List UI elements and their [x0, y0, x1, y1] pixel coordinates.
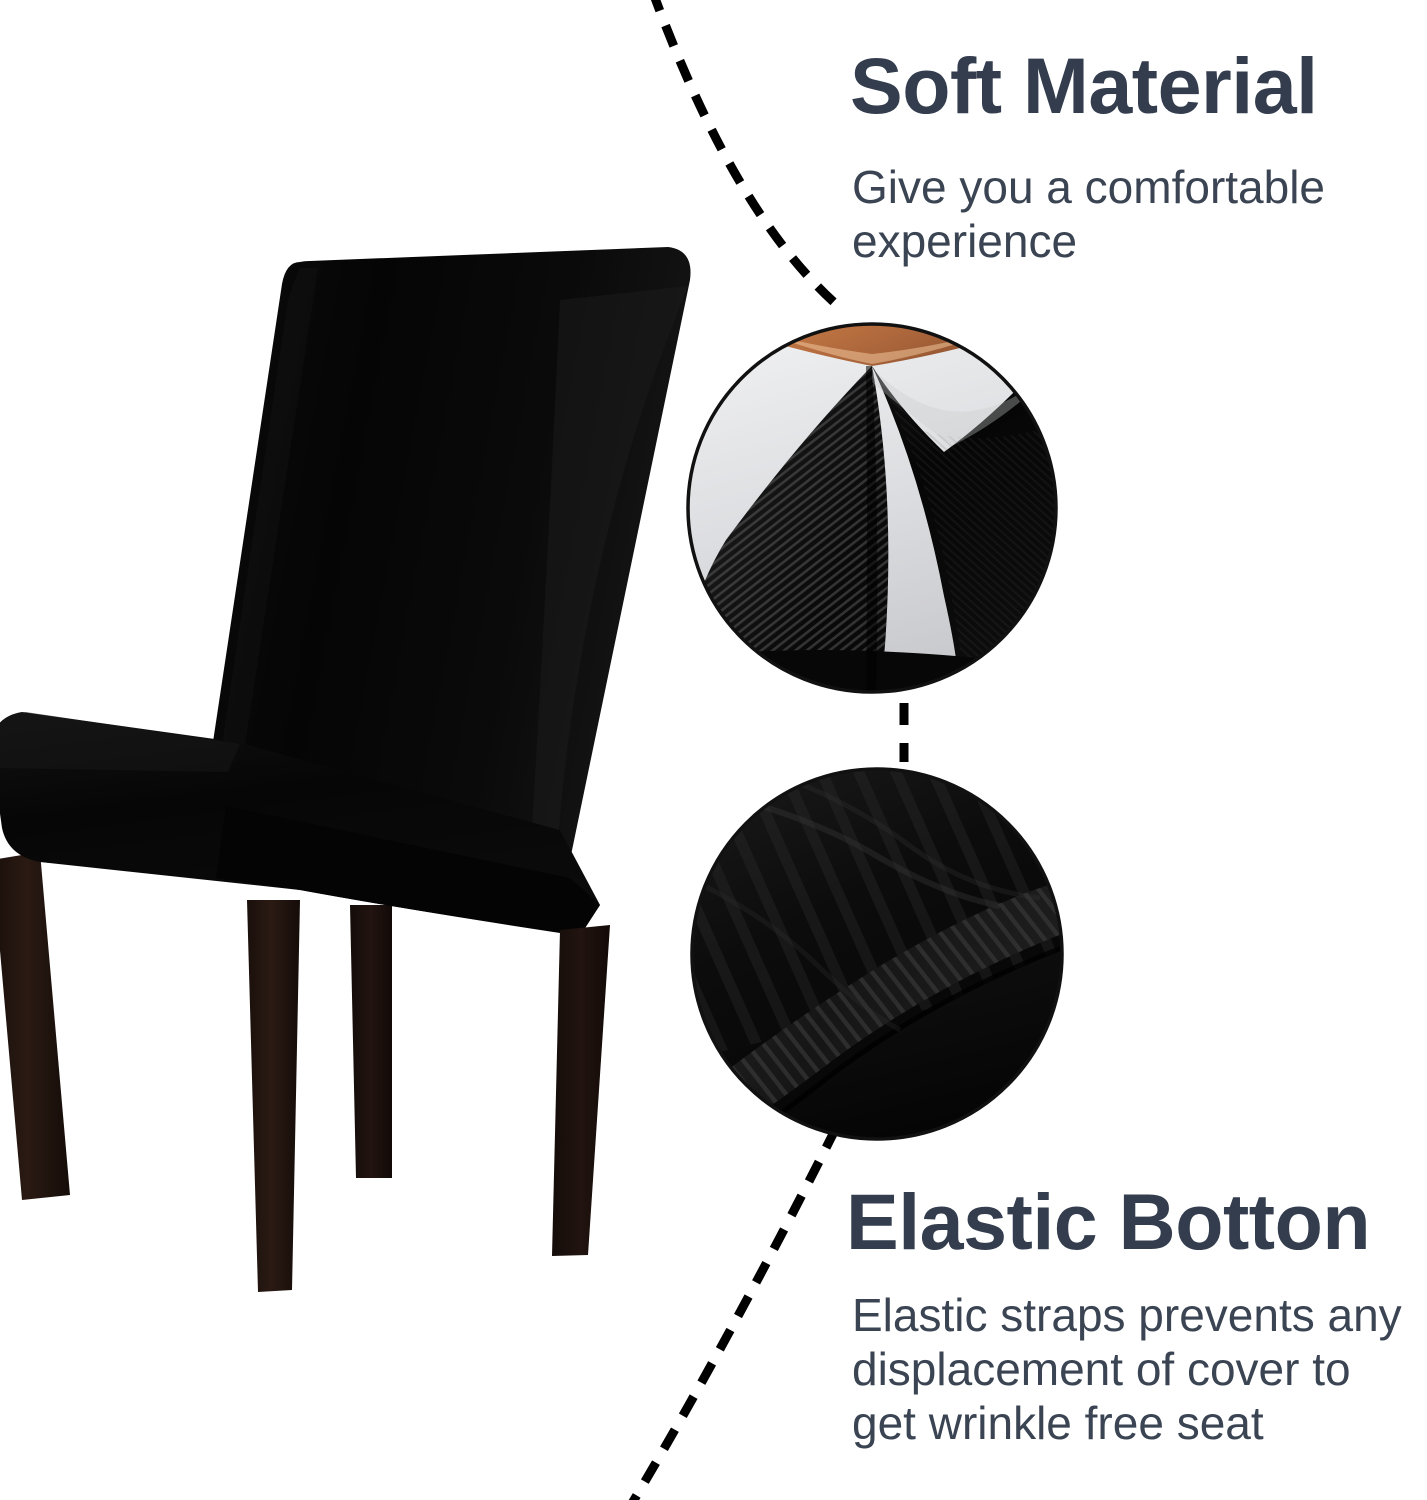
- elastic-botton-heading: Elastic Botton: [846, 1180, 1370, 1264]
- soft-material-closeup-content: [672, 300, 1075, 705]
- soft-material-description: Give you a comfortable experience: [852, 160, 1412, 268]
- elastic-botton-description: Elastic straps prevents any displacement…: [852, 1288, 1412, 1450]
- chair-rear-legs: [0, 852, 392, 1200]
- infographic-canvas: Soft Material Give you a comfortable exp…: [0, 0, 1427, 1500]
- chair-backrest-cover: [208, 247, 691, 881]
- dashed-guide-curve-lower: [628, 1128, 836, 1500]
- chair-front-legs: [247, 900, 610, 1292]
- chair-seat-cover: [0, 712, 600, 936]
- soft-material-heading: Soft Material: [850, 44, 1318, 128]
- elastic-botton-closeup-content: [668, 764, 1078, 1180]
- dashed-guide-curve-upper: [652, 0, 845, 312]
